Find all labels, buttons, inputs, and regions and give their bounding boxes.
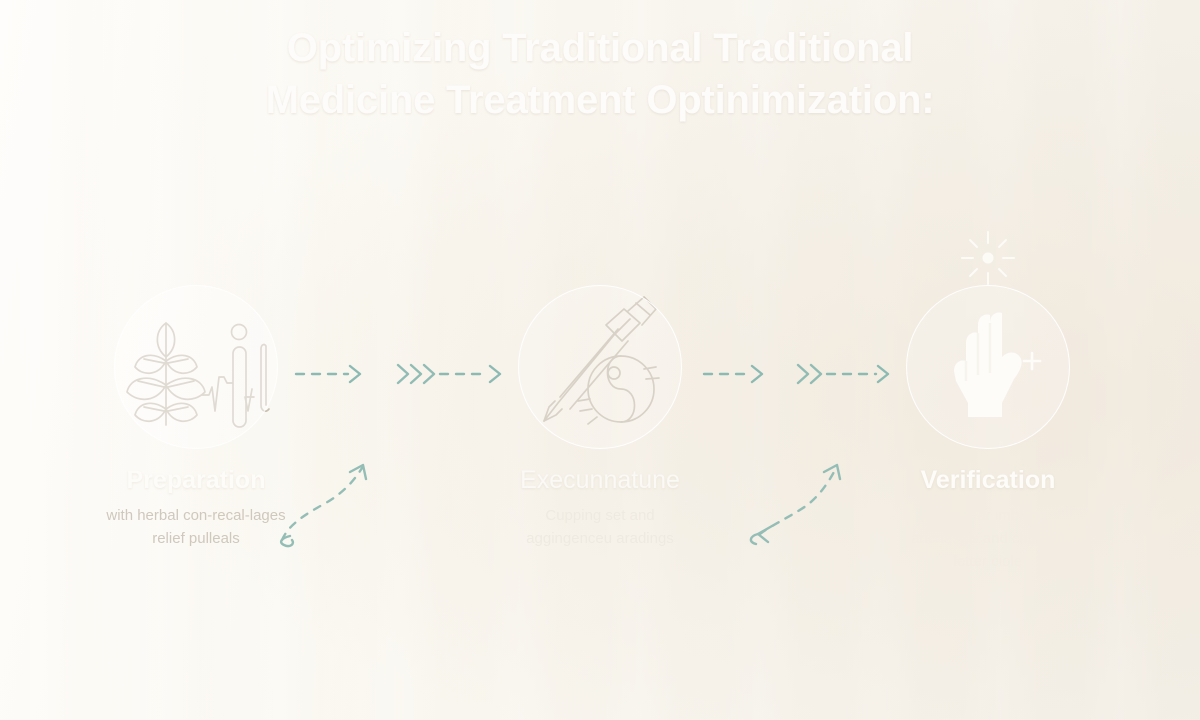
verification-icon-circle [906, 285, 1070, 449]
execunnatune-icon-circle [518, 285, 682, 449]
loop-arrow-2 [736, 450, 856, 555]
circle-backdrop [906, 285, 1070, 449]
node-desc-line: aggingenceu aradings [450, 527, 750, 550]
loop-arrow-1 [262, 448, 382, 553]
process-flow: Preparation with herbal con-recal-lages … [0, 285, 1200, 585]
title-line-2: Medicine Treatment Optinimization: [0, 74, 1200, 126]
node-desc-execunnatune: Cupping set and aggingenceu aradings [450, 504, 750, 550]
circle-backdrop [518, 285, 682, 449]
node-desc-line: Cupping set and [450, 504, 750, 527]
node-desc-line: Alllie tear imbking [838, 504, 1138, 527]
title-line-1: Optimizing Traditional Traditional [0, 22, 1200, 74]
flow-node-verification[interactable]: Verification Alllie tear imbking ancrias… [838, 285, 1138, 573]
node-desc-line: ancriasuls and chedien [838, 527, 1138, 550]
sun-sparkle-icon [958, 228, 1018, 293]
node-label-verification: Verification [838, 465, 1138, 495]
preparation-icon-circle [114, 285, 278, 449]
node-label-execunnatune: Execunnatune [450, 465, 750, 495]
circle-backdrop [114, 285, 278, 449]
flow-node-execunnatune[interactable]: Execunnatune Cupping set and aggingenceu… [450, 285, 750, 550]
page-title: Optimizing Traditional Traditional Medic… [0, 22, 1200, 126]
diagram-canvas: Optimizing Traditional Traditional Medic… [0, 0, 1200, 720]
node-desc-line: letter ciole [838, 550, 1138, 573]
node-desc-verification: Alllie tear imbking ancriasuls and chedi… [838, 504, 1138, 573]
